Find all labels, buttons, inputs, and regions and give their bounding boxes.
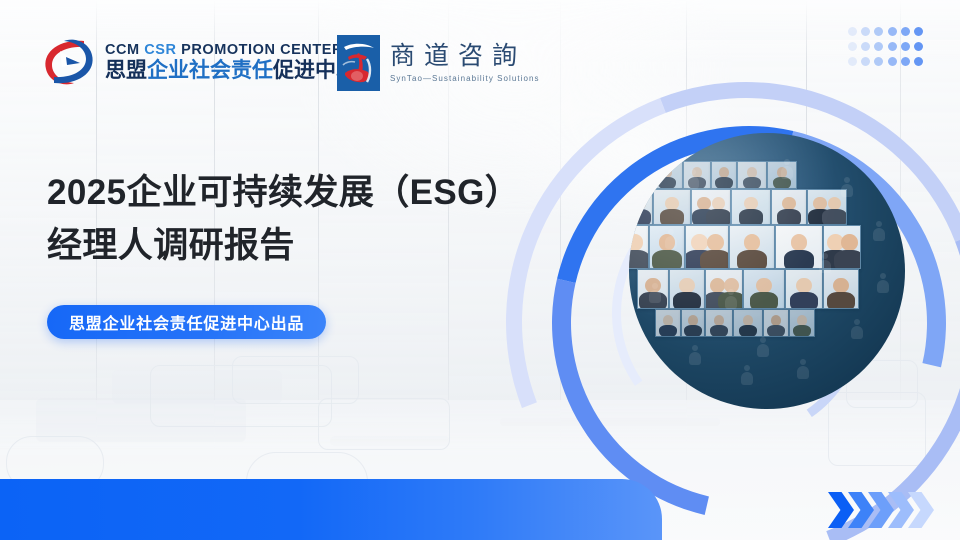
person-glyph-icon <box>841 177 853 197</box>
logo-syntao: 商道咨詢 SynTao—Sustainability Solutions <box>337 35 540 91</box>
bottom-blue-band <box>0 479 662 540</box>
page-title-line-1: 2025企业可持续发展（ESG） <box>47 166 567 219</box>
syntao-english-tagline: SynTao—Sustainability Solutions <box>390 74 540 83</box>
person-glyph-icon <box>851 319 863 339</box>
person-glyph-icon <box>757 337 769 357</box>
person-glyph-icon <box>797 359 809 379</box>
person-glyph-icon <box>665 229 677 249</box>
page-title-line-2: 经理人调研报告 <box>47 219 567 272</box>
person-glyph-icon <box>819 253 831 273</box>
person-glyph-icon <box>649 283 661 303</box>
publisher-badge: 思盟企业社会责任促进中心出品 <box>47 305 326 339</box>
person-glyph-icon <box>741 365 753 385</box>
chevron-arrow-row <box>828 492 948 528</box>
ccm-english-name: CCM CSR PROMOTION CENTER <box>105 43 357 58</box>
person-glyph-icon <box>725 289 737 309</box>
chevron-icon <box>828 492 854 528</box>
page-title: 2025企业可持续发展（ESG） 经理人调研报告 <box>47 166 567 272</box>
circular-portrait-collage <box>629 133 905 409</box>
person-glyph-icon <box>873 221 885 241</box>
ccm-swoosh-icon <box>40 33 98 91</box>
logo-ccm-csr-promotion-center: CCM CSR PROMOTION CENTER 思盟企业社会责任促进中心 <box>40 33 357 91</box>
person-glyph-icon <box>781 159 793 179</box>
slide-canvas: CCM CSR PROMOTION CENTER 思盟企业社会责任促进中心 <box>0 0 960 540</box>
syntao-chinese-name: 商道咨詢 <box>390 43 540 69</box>
syntao-seal-icon <box>337 35 380 91</box>
person-glyph-icon <box>689 345 701 365</box>
person-glyph-icon <box>687 169 699 189</box>
person-glyph-icon <box>877 273 889 293</box>
ccm-chinese-name: 思盟企业社会责任促进中心 <box>105 60 357 81</box>
